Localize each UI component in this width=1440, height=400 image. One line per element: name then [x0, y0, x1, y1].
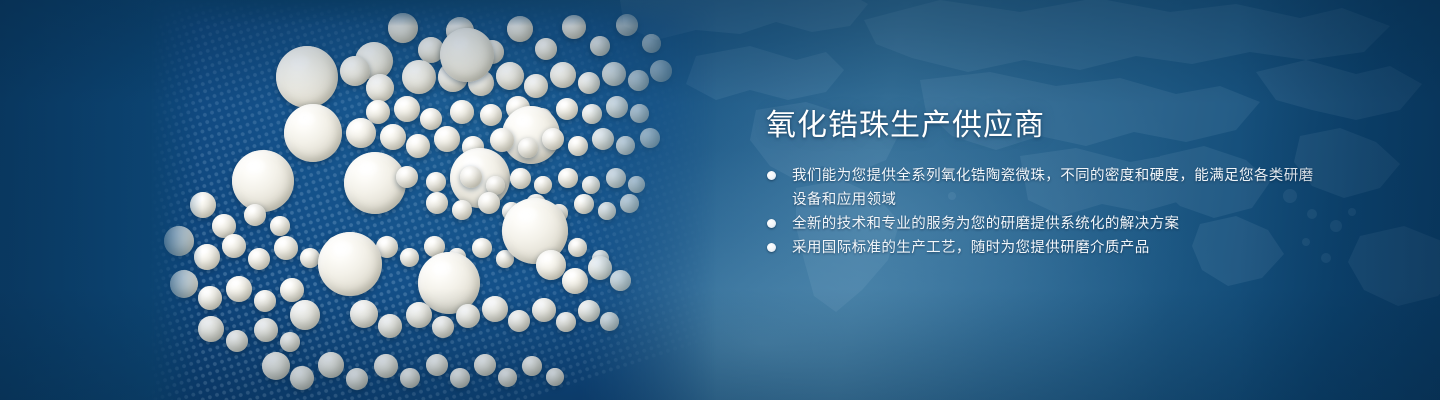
hero-banner: 氧化锆珠生产供应商 我们能为您提供全系列氧化锆陶瓷微珠，不同的密度和硬度，能满足… [0, 0, 1440, 400]
edge-vignette [0, 0, 1440, 400]
